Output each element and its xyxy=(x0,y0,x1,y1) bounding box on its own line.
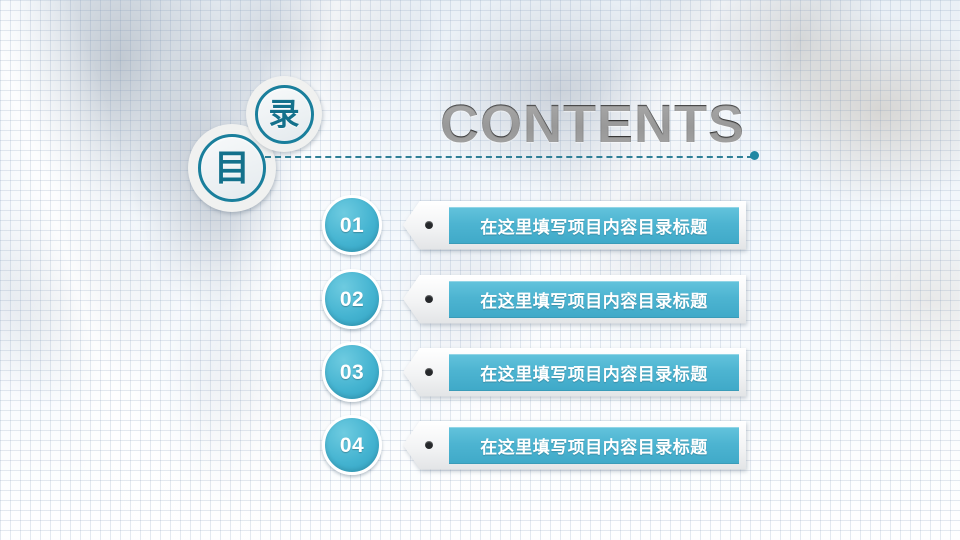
item-number-label: 02 xyxy=(340,289,364,310)
presentation-slide: 目 录 CONTENTS 01 在这里填写项目内容目录标题 xyxy=(0,0,960,540)
item-label: 在这里填写项目内容目录标题 xyxy=(480,213,708,238)
item-label: 在这里填写项目内容目录标题 xyxy=(480,360,708,385)
item-number-label: 04 xyxy=(340,435,364,456)
bullet-dot-icon xyxy=(425,368,433,376)
item-number-badge: 03 xyxy=(322,342,382,402)
item-number-badge: 01 xyxy=(322,195,382,255)
item-bar-fill: 在这里填写项目内容目录标题 xyxy=(449,281,739,318)
bullet-dot-icon xyxy=(425,221,433,229)
gear-ring: 录 xyxy=(255,85,314,144)
item-number-badge: 04 xyxy=(322,415,382,475)
gear-badge-lu-icon: 录 xyxy=(246,76,322,152)
list-item[interactable]: 02 在这里填写项目内容目录标题 xyxy=(322,271,746,327)
divider-end-dot-icon xyxy=(750,151,759,160)
list-item[interactable]: 04 在这里填写项目内容目录标题 xyxy=(322,417,746,473)
item-label: 在这里填写项目内容目录标题 xyxy=(480,433,708,458)
item-bar[interactable]: 在这里填写项目内容目录标题 xyxy=(403,201,746,250)
item-bar-fill: 在这里填写项目内容目录标题 xyxy=(449,354,739,391)
item-number-label: 03 xyxy=(340,362,364,383)
list-item[interactable]: 01 在这里填写项目内容目录标题 xyxy=(322,197,746,253)
gear-ring: 目 xyxy=(198,134,266,202)
bullet-dot-icon xyxy=(425,441,433,449)
list-item[interactable]: 03 在这里填写项目内容目录标题 xyxy=(322,344,746,400)
gear-badge-lu-label: 录 xyxy=(269,99,300,130)
item-bar[interactable]: 在这里填写项目内容目录标题 xyxy=(403,275,746,324)
bullet-dot-icon xyxy=(425,295,433,303)
item-label: 在这里填写项目内容目录标题 xyxy=(480,287,708,312)
item-bar[interactable]: 在这里填写项目内容目录标题 xyxy=(403,421,746,470)
item-number-badge: 02 xyxy=(322,269,382,329)
item-bar[interactable]: 在这里填写项目内容目录标题 xyxy=(403,348,746,397)
item-bar-fill: 在这里填写项目内容目录标题 xyxy=(449,427,739,464)
gear-badge-mu-label: 目 xyxy=(214,150,250,186)
item-bar-fill: 在这里填写项目内容目录标题 xyxy=(449,207,739,244)
item-number-label: 01 xyxy=(340,215,364,236)
title-divider xyxy=(265,156,753,158)
page-title: CONTENTS xyxy=(440,93,745,155)
